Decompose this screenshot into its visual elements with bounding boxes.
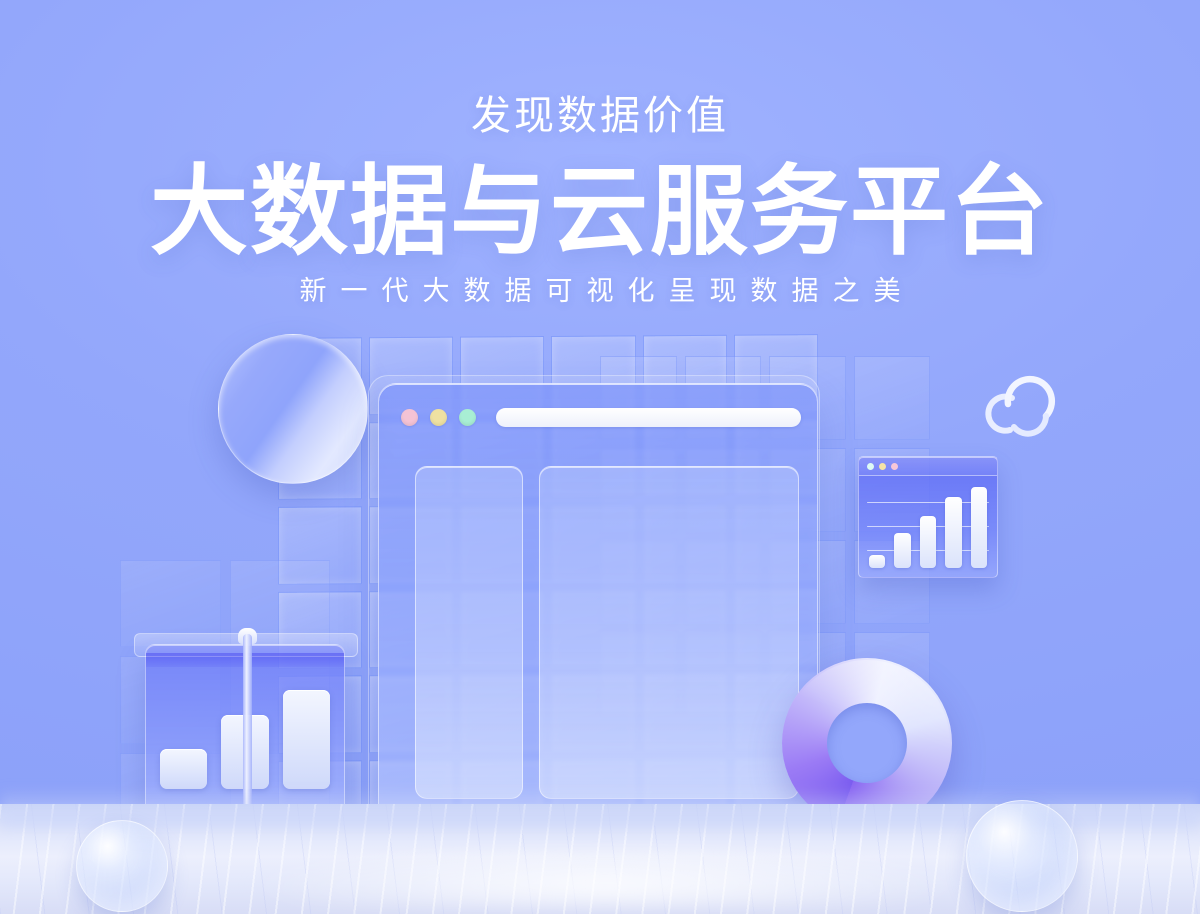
- widget-dot-1-icon[interactable]: [867, 463, 874, 470]
- content-pane[interactable]: [539, 466, 799, 799]
- widget-bar-series: [869, 484, 987, 568]
- hero-banner: 发现数据价值 大数据与云服务平台 新一代大数据可视化呈现数据之美: [0, 0, 1200, 914]
- url-input[interactable]: [496, 408, 801, 427]
- widget-dot-3-icon[interactable]: [891, 463, 898, 470]
- banner-copy: 发现数据价值 大数据与云服务平台 新一代大数据可视化呈现数据之美: [0, 0, 1200, 305]
- widget-dot-2-icon[interactable]: [879, 463, 886, 470]
- eyebrow-text: 发现数据价值: [0, 96, 1200, 136]
- glass-sphere-right: [966, 800, 1078, 912]
- browser-titlebar: [379, 384, 817, 450]
- widget-chart-area: [859, 476, 997, 577]
- glass-disc: [218, 334, 368, 484]
- subtitle-text: 新一代大数据可视化呈现数据之美: [0, 278, 1200, 305]
- sidebar-pane[interactable]: [415, 466, 523, 799]
- bar-A: [160, 749, 207, 789]
- bar-5: [971, 487, 987, 568]
- close-dot-icon[interactable]: [401, 409, 418, 426]
- minimize-dot-icon[interactable]: [430, 409, 447, 426]
- bar-4: [945, 497, 961, 568]
- bar-C: [283, 690, 330, 789]
- floor-glow: [216, 850, 1080, 908]
- bar-3: [920, 516, 936, 568]
- maximize-dot-icon[interactable]: [459, 409, 476, 426]
- page-title: 大数据与云服务平台: [0, 162, 1200, 262]
- glass-sphere-left: [76, 820, 168, 912]
- bar-1: [869, 555, 885, 568]
- browser-window-mockup[interactable]: [378, 383, 818, 835]
- widget-titlebar: [859, 457, 997, 476]
- dashboard-widget[interactable]: [858, 456, 998, 578]
- bar-2: [894, 533, 910, 568]
- lattice-cell: [854, 356, 931, 440]
- cloud-outline-icon: [976, 364, 1068, 438]
